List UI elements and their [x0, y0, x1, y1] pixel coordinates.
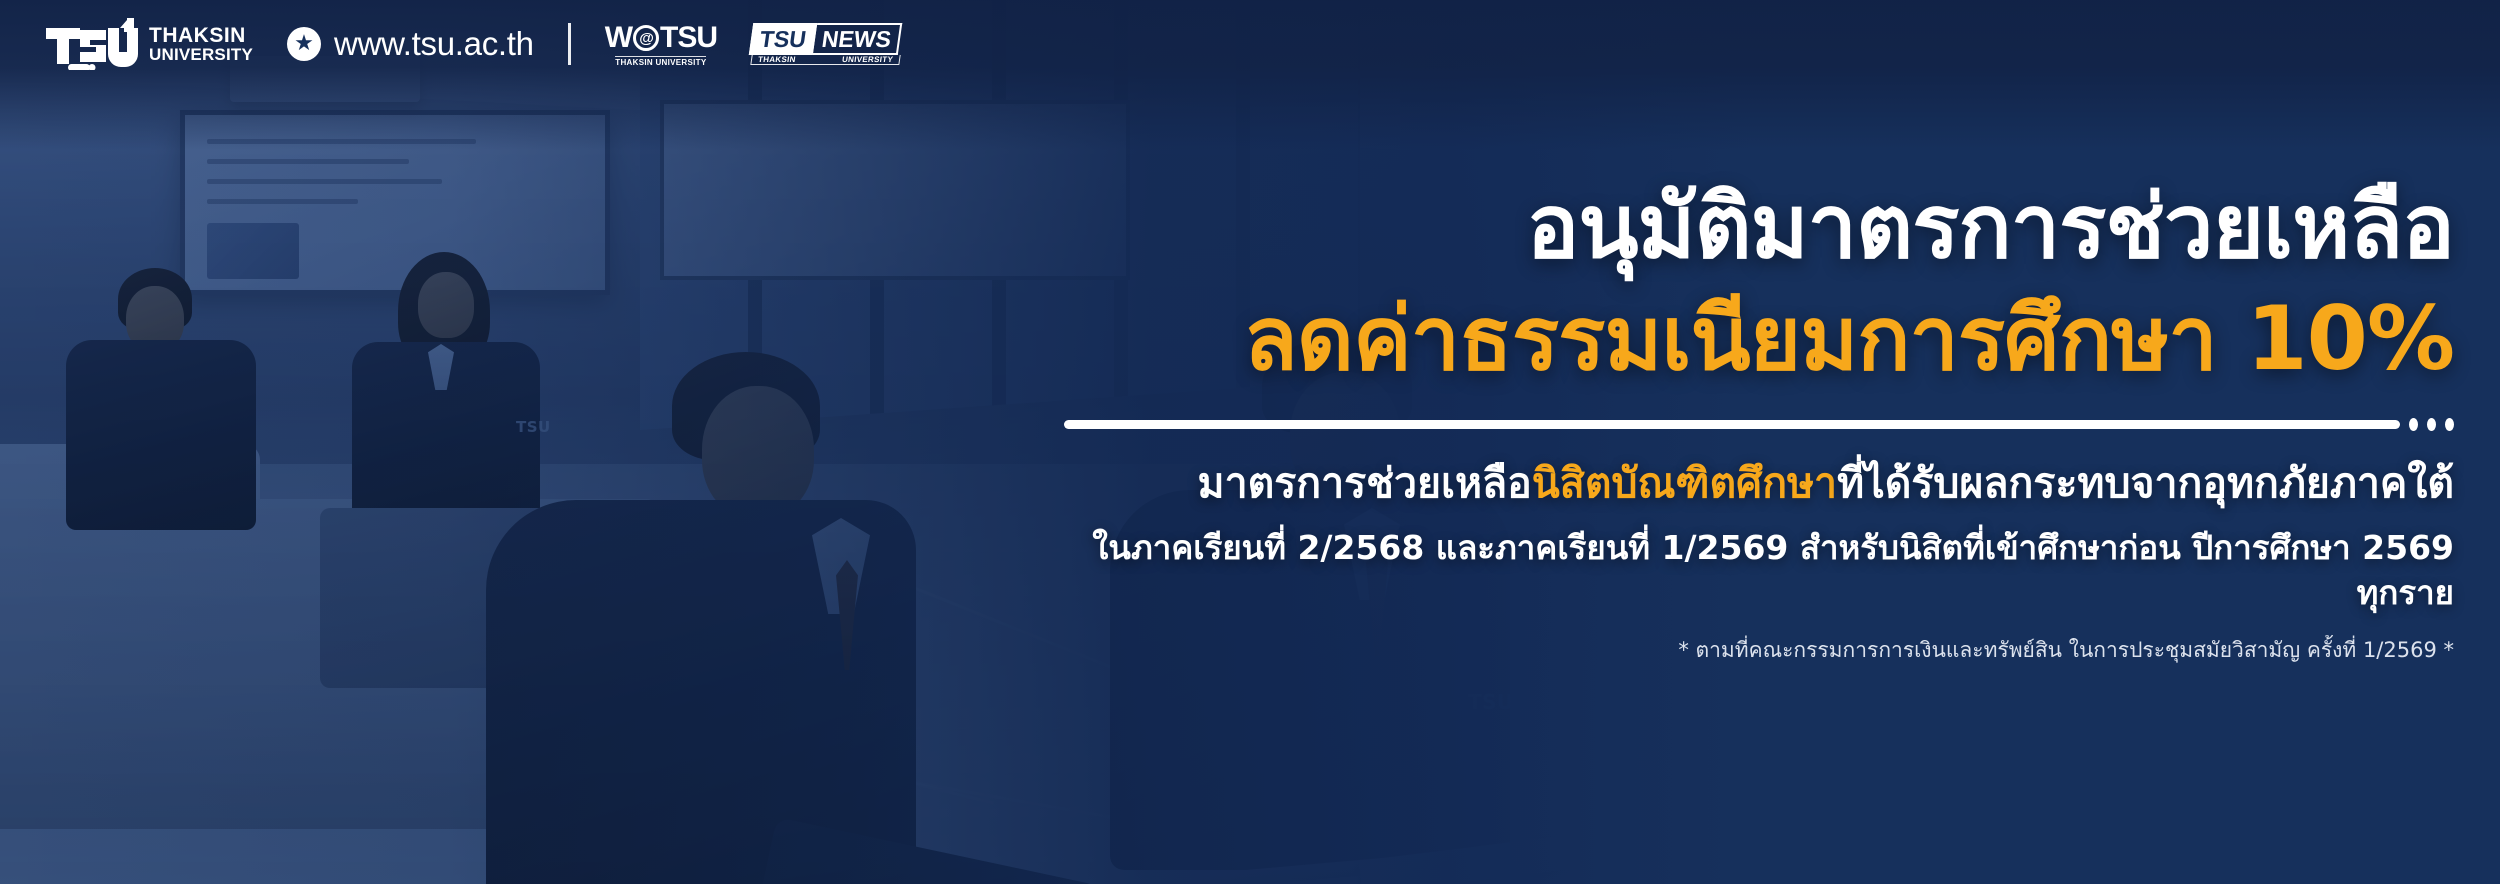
website-link[interactable]: ★ www.tsu.ac.th [287, 25, 534, 63]
news-logo-foot-left: THAKSIN [757, 55, 796, 64]
news-logo-footer: THAKSIN UNIVERSITY [750, 55, 900, 65]
footnote: * ตามที่คณะกรรมการการเงินและทรัพย์สิน ใน… [1064, 636, 2454, 665]
divider-rule [1064, 418, 2454, 431]
promotional-banner: TSU TSU [0, 0, 2500, 884]
wetsu-wordmark: W @ TSU [605, 21, 717, 55]
subtitle-part-white-1: มาตรการช่วยเหลือ [1198, 459, 1532, 507]
thaksin-university-logo[interactable]: THAKSIN UNIVERSITY [46, 18, 253, 70]
website-url-text: www.tsu.ac.th [334, 25, 534, 63]
at-sign-icon: @ [633, 25, 659, 51]
news-logo-news: NEWS [813, 23, 903, 55]
header-bar: THAKSIN UNIVERSITY ★ www.tsu.ac.th W @ T… [0, 0, 2500, 88]
divider-dot [2427, 418, 2436, 431]
university-name: THAKSIN UNIVERSITY [149, 25, 253, 63]
divider-dot [2445, 418, 2454, 431]
headline-primary: อนุมัติมาตรการช่วยเหลือ [1064, 175, 2454, 279]
university-name-line1: THAKSIN [149, 25, 253, 46]
announcement-content: อนุมัติมาตรการช่วยเหลือ ลดค่าธรรมเนียมกา… [1064, 175, 2454, 665]
star-icon: ★ [287, 27, 321, 61]
wetsu-suffix: TSU [660, 21, 717, 55]
headline-secondary: ลดค่าธรรมเนียมการศึกษา 10% [1064, 285, 2454, 392]
wetsu-prefix: W [605, 21, 632, 55]
header-separator [568, 23, 571, 65]
tsu-news-logo[interactable]: TSU NEWS THAKSIN UNIVERSITY [751, 23, 900, 65]
subtitle-part-gold: นิสิตบัณฑิตศึกษา [1532, 459, 1837, 507]
wetsu-logo[interactable]: W @ TSU THAKSIN UNIVERSITY [605, 21, 717, 67]
tsu-monogram-icon [46, 18, 140, 70]
news-logo-tsu: TSU [749, 23, 818, 55]
news-logo-foot-right: UNIVERSITY [841, 55, 893, 64]
wetsu-subtitle: THAKSIN UNIVERSITY [615, 56, 706, 67]
detail-line: ในภาคเรียนที่ 2/2568 และภาคเรียนที่ 1/25… [1064, 526, 2454, 615]
university-name-line2: UNIVERSITY [149, 46, 253, 63]
divider-bar [1064, 420, 2400, 429]
tsu-news-wordmark: TSU NEWS [749, 23, 903, 55]
divider-dot [2409, 418, 2418, 431]
subtitle-line: มาตรการช่วยเหลือนิสิตบัณฑิตศึกษาที่ได้รั… [1064, 457, 2454, 510]
subtitle-part-white-2: ที่ได้รับผลกระทบจากอุทกภัยภาคใต้ [1837, 459, 2454, 507]
